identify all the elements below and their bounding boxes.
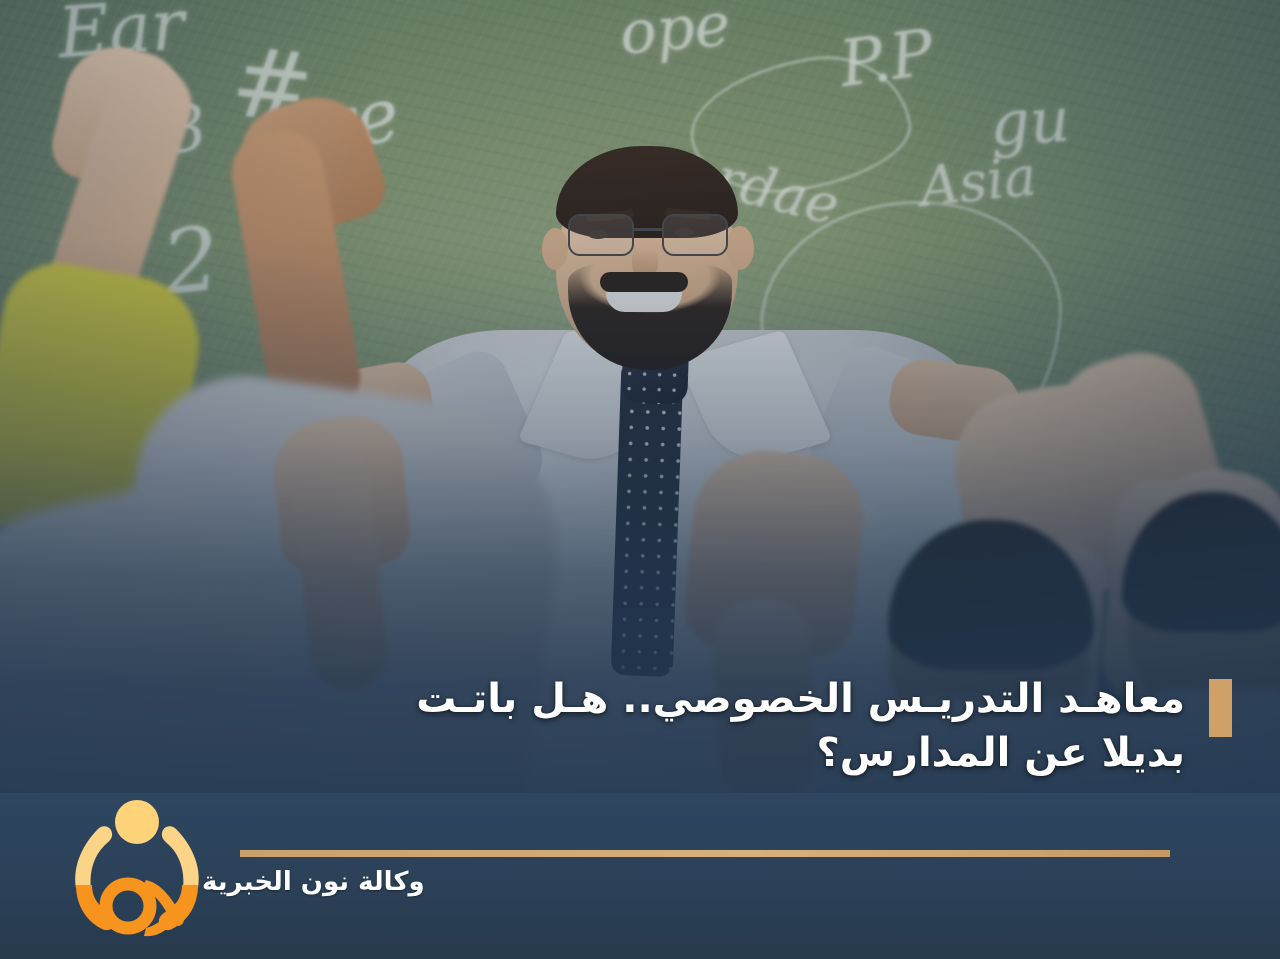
logo-left-arm <box>75 826 112 889</box>
page-title: معاهـد التدريـس الخصوصي.. هـل باتـت بديل… <box>225 672 1185 780</box>
footer-divider <box>240 850 1170 857</box>
logo-alpha-loop <box>106 884 150 928</box>
footer-bar: وكالة نون الخبرية <box>0 793 1280 959</box>
agency-name: وكالة نون الخبرية <box>202 867 425 897</box>
headline-line-1: معاهـد التدريـس الخصوصي.. هـل باتـت <box>225 672 1185 726</box>
logo-right-arm <box>162 826 199 889</box>
logo-head-circle <box>115 800 159 844</box>
noon-agency-logo[interactable] <box>62 793 212 938</box>
news-card: Ear 113" 2 8' # re ope P.P Asia gu rdae … <box>0 0 1280 959</box>
headline-accent-bar <box>1209 679 1232 737</box>
headline-line-2: بديلا عن المدارس؟ <box>225 726 1185 780</box>
